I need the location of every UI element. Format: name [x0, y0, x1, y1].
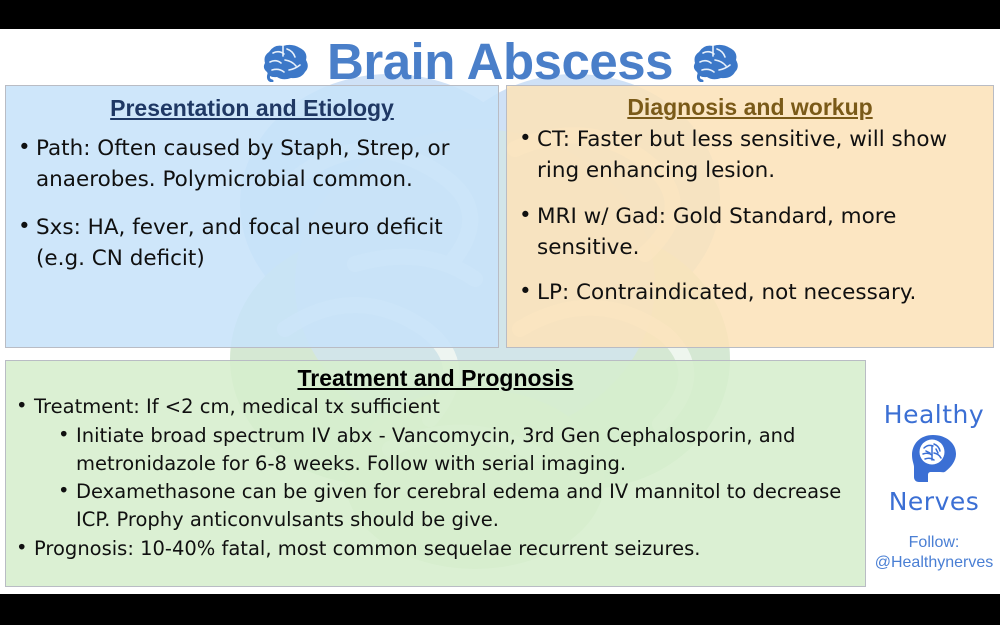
panel-treatment-header: Treatment and Prognosis: [6, 361, 865, 391]
slide-title-row: Brain Abscess: [0, 30, 1000, 92]
panel-diagnosis-and-workup: Diagnosis and workup CT: Faster but less…: [506, 85, 994, 348]
social-handle: @Healthynerves: [868, 553, 1000, 573]
list-item: Treatment: If <2 cm, medical tx sufficie…: [12, 393, 857, 533]
letterbox-bar-top: [0, 0, 1000, 29]
panel-treatment-and-prognosis: Treatment and Prognosis Treatment: If <2…: [5, 360, 866, 587]
list-item: MRI w/ Gad: Gold Standard, more sensitiv…: [515, 201, 985, 263]
brand-name-bottom: Nerves: [868, 488, 1000, 516]
panel-diagnosis-header: Diagnosis and workup: [507, 86, 993, 120]
list-item: Path: Often caused by Staph, Strep, or a…: [14, 134, 488, 195]
sub-list: Initiate broad spectrum IV abx - Vancomy…: [54, 422, 857, 534]
head-with-brain-icon: [906, 433, 962, 485]
panel-diagnosis-list: CT: Faster but less sensitive, will show…: [515, 124, 985, 308]
list-item: Sxs: HA, fever, and focal neuro deficit …: [14, 213, 488, 274]
sub-list-item: Dexamethasone can be given for cerebral …: [54, 478, 857, 533]
brand-name-top: Healthy: [868, 401, 1000, 429]
branding-block: Healthy Nerves Follow: @Healthynerves: [868, 401, 1000, 573]
panel-treatment-list: Treatment: If <2 cm, medical tx sufficie…: [12, 393, 857, 562]
letterbox-bar-bottom: [0, 594, 1000, 625]
list-item-text: Treatment: If <2 cm, medical tx sufficie…: [34, 395, 440, 418]
panel-presentation-header: Presentation and Etiology: [6, 86, 498, 121]
list-item-text: Prognosis: 10-40% fatal, most common seq…: [34, 537, 700, 560]
list-item: CT: Faster but less sensitive, will show…: [515, 124, 985, 186]
list-item: LP: Contraindicated, not necessary.: [515, 277, 985, 308]
sub-list-item: Initiate broad spectrum IV abx - Vancomy…: [54, 422, 857, 477]
page-title: Brain Abscess: [327, 36, 673, 87]
brain-icon-left: [259, 40, 311, 82]
brain-icon-right: [689, 40, 741, 82]
slide-frame: Brain Abscess Presentation and Etio: [0, 0, 1000, 625]
follow-label: Follow:: [868, 533, 1000, 553]
slide-canvas: Brain Abscess Presentation and Etio: [0, 29, 1000, 594]
panel-presentation-and-etiology: Presentation and Etiology Path: Often ca…: [5, 85, 499, 348]
panel-presentation-list: Path: Often caused by Staph, Strep, or a…: [14, 134, 488, 274]
list-item: Prognosis: 10-40% fatal, most common seq…: [12, 535, 857, 563]
